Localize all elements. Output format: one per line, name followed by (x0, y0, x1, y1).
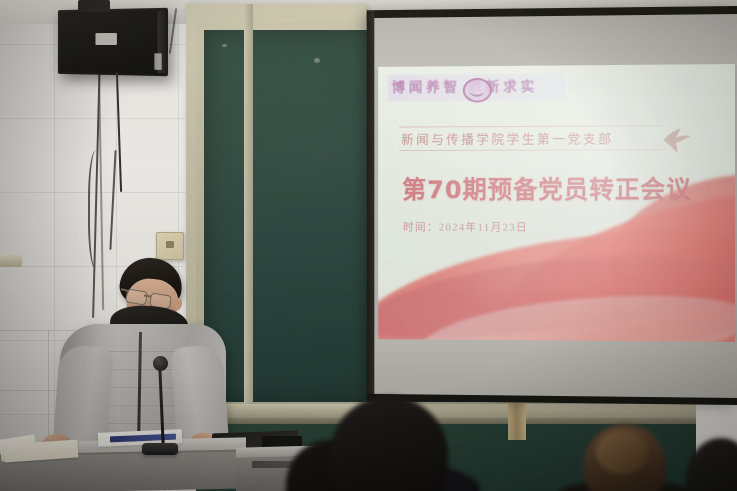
wall-cable-loop (88, 150, 108, 270)
subtitle-rule-bottom (399, 149, 662, 151)
speaker-tab (154, 53, 161, 70)
screen-blank-bottom (374, 337, 737, 398)
swallow-icon (658, 126, 692, 154)
projection-screen: 博闻养智 鼎新求实 新闻与传播学院学生第一党支部 第70期预备党员转正会议 时间… (367, 6, 737, 402)
slide-subtitle: 新闻与传播学院学生第一党支部 (401, 128, 674, 148)
presenter-ear (173, 298, 183, 311)
slide-main-title: 第70期预备党员转正会议 (402, 170, 725, 206)
microphone-icon (153, 356, 168, 371)
classroom-presentation-photo: 博闻养智 鼎新求实 新闻与传播学院学生第一党支部 第70期预备党员转正会议 时间… (0, 0, 737, 491)
microphone-base (142, 443, 178, 455)
slide-date: 时间：2024年11月23日 (403, 219, 528, 235)
wall-speaker-icon (58, 8, 168, 76)
screen-left-edge (367, 10, 375, 398)
presenter (26, 258, 220, 458)
wall-socket-icon (156, 232, 184, 260)
university-seal-icon (463, 78, 492, 103)
chalkboard-divider (244, 4, 253, 434)
projected-slide: 博闻养智 鼎新求实 新闻与传播学院学生第一党支部 第70期预备党员转正会议 时间… (378, 64, 735, 342)
speaker-mount-bracket (78, 0, 110, 12)
subtitle-rule-top (399, 125, 662, 127)
wall-clip (0, 255, 22, 267)
chalkboard-rail (196, 404, 696, 418)
speaker-badge (95, 33, 116, 45)
audience-hair-highlight (596, 430, 648, 474)
chalk-mark (314, 58, 320, 63)
screen-blank-top (374, 14, 737, 69)
chalk-mark (222, 44, 227, 47)
